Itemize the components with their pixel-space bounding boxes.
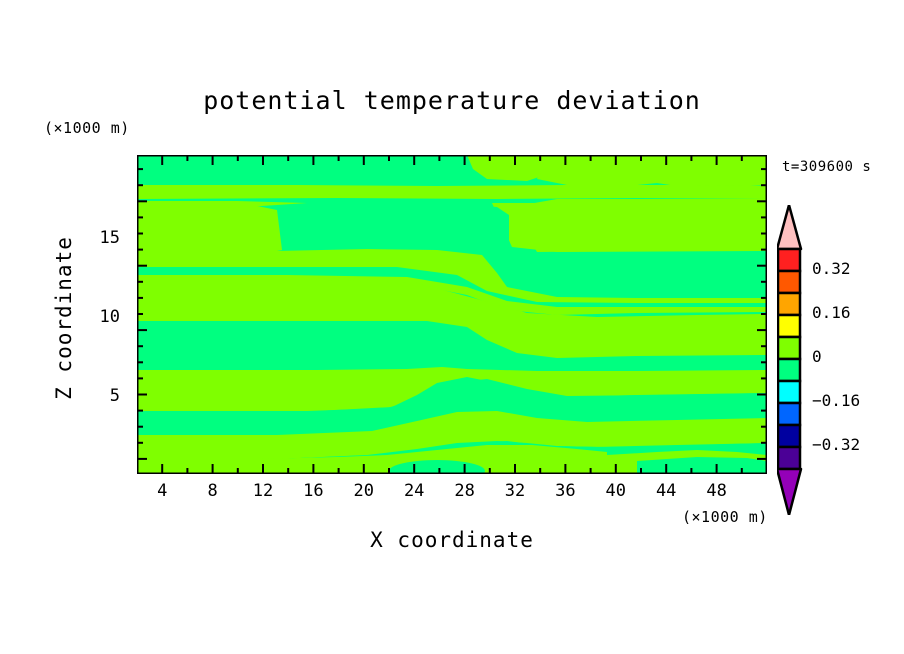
x-tick-label: 4 — [142, 481, 182, 501]
page-title: potential temperature deviation — [0, 86, 904, 115]
x-tick-label: 24 — [394, 481, 434, 501]
x-tick-label: 36 — [545, 481, 585, 501]
colorbar-tick-label: 0 — [812, 347, 822, 366]
y-tick-label: 5 — [80, 386, 120, 404]
x-tick-label: 16 — [293, 481, 333, 501]
colorbar-swatches — [777, 205, 801, 515]
contour-bands — [137, 155, 767, 474]
y-axis-title: Z coordinate — [52, 218, 76, 418]
colorbar-tick-label: 0.16 — [812, 303, 851, 322]
x-tick-label: 48 — [697, 481, 737, 501]
colorbar-tick-label: 0.32 — [812, 259, 851, 278]
time-annotation: t=309600 s — [782, 159, 871, 175]
y-axis-unit-label: (×1000 m) — [44, 119, 130, 137]
x-tick-label: 44 — [646, 481, 686, 501]
x-tick-label: 20 — [344, 481, 384, 501]
colorbar[interactable] — [777, 205, 811, 515]
x-axis-unit-label: (×1000 m) — [682, 508, 768, 526]
x-tick-label: 28 — [445, 481, 485, 501]
colorbar-cap-top — [777, 205, 801, 249]
colorbar-tick-label: −0.32 — [812, 435, 860, 454]
figure-canvas: potential temperature deviation (×1000 m… — [0, 0, 904, 654]
y-tick-label: 15 — [80, 228, 120, 246]
x-tick-label: 40 — [596, 481, 636, 501]
x-tick-label: 32 — [495, 481, 535, 501]
colorbar-tick-label: −0.16 — [812, 391, 860, 410]
x-tick-label: 12 — [243, 481, 283, 501]
x-axis-title: X coordinate — [0, 528, 904, 552]
colorbar-cap-bottom — [777, 469, 801, 515]
y-tick-label: 10 — [80, 307, 120, 325]
contour-plot-area — [137, 155, 767, 474]
x-tick-label: 8 — [193, 481, 233, 501]
